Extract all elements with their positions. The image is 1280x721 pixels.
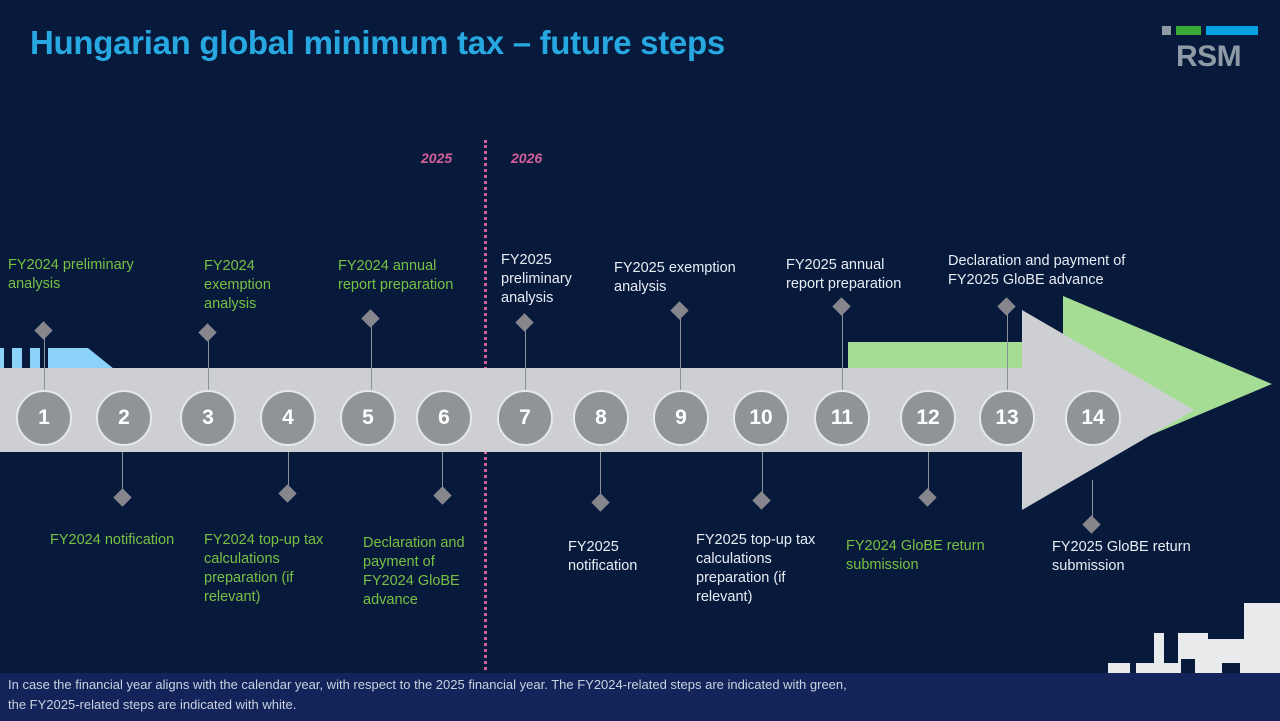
footer-line-1: In case the financial year aligns with t… [8, 675, 1118, 695]
footer-note: In case the financial year aligns with t… [8, 675, 1118, 715]
step-label-8: FY2025 notification [568, 538, 664, 576]
step-label-6: Declaration and payment of FY2024 GloBE … [363, 534, 475, 611]
step-circle-1[interactable]: 1 [16, 390, 72, 446]
diamond-marker-14 [1082, 515, 1100, 533]
step-circle-8[interactable]: 8 [573, 390, 629, 446]
step-circle-13[interactable]: 13 [979, 390, 1035, 446]
logo-text: RSM [1176, 40, 1241, 74]
step-circle-11[interactable]: 11 [814, 390, 870, 446]
step-label-14: FY2025 GloBE return submission [1052, 538, 1220, 576]
step-label-12: FY2024 GloBE return submission [846, 537, 1010, 575]
connector-5 [371, 318, 372, 390]
step-label-13: Declaration and payment of FY2025 GloBE … [948, 252, 1134, 290]
connector-13 [1007, 314, 1008, 390]
step-label-1: FY2024 preliminary analysis [8, 256, 158, 294]
connector-7 [525, 326, 526, 390]
page-title: Hungarian global minimum tax – future st… [30, 24, 725, 62]
step-circle-7[interactable]: 7 [497, 390, 553, 446]
connector-14 [1092, 480, 1093, 520]
step-circle-4[interactable]: 4 [260, 390, 316, 446]
step-label-4: FY2024 top-up tax calculations preparati… [204, 531, 342, 608]
slide-canvas: Hungarian global minimum tax – future st… [0, 0, 1280, 721]
step-circle-2[interactable]: 2 [96, 390, 152, 446]
step-label-5: FY2024 annual report preparation [338, 257, 454, 295]
step-circle-12[interactable]: 12 [900, 390, 956, 446]
logo-bar-gray-icon [1162, 26, 1171, 35]
connector-8 [600, 452, 601, 498]
connector-10 [762, 452, 763, 496]
step-label-2: FY2024 notification [50, 531, 206, 550]
step-circle-6[interactable]: 6 [416, 390, 472, 446]
footer-line-2: the FY2025-related steps are indicated w… [8, 695, 1118, 715]
rsm-logo: RSM [1162, 22, 1242, 74]
step-circle-14[interactable]: 14 [1065, 390, 1121, 446]
step-label-10: FY2025 top-up tax calculations preparati… [696, 531, 834, 608]
logo-bar-blue-icon [1206, 26, 1258, 35]
connector-3 [208, 338, 209, 390]
year-label-2026: 2026 [511, 150, 542, 166]
step-circles: 1 2 3 4 5 6 7 8 9 10 11 12 13 14 [0, 390, 1280, 450]
step-circle-10[interactable]: 10 [733, 390, 789, 446]
step-label-3: FY2024 exemption analysis [204, 257, 316, 314]
logo-bar-green-icon [1176, 26, 1201, 35]
step-label-9: FY2025 exemption analysis [614, 259, 774, 297]
connector-11 [842, 314, 843, 390]
step-label-7: FY2025 preliminary analysis [501, 251, 593, 308]
connector-12 [928, 452, 929, 494]
year-label-2025: 2025 [421, 150, 452, 166]
connector-9 [680, 318, 681, 390]
step-circle-3[interactable]: 3 [180, 390, 236, 446]
step-label-11: FY2025 annual report preparation [786, 256, 922, 294]
step-circle-9[interactable]: 9 [653, 390, 709, 446]
step-circle-5[interactable]: 5 [340, 390, 396, 446]
logo-bars [1162, 26, 1242, 35]
